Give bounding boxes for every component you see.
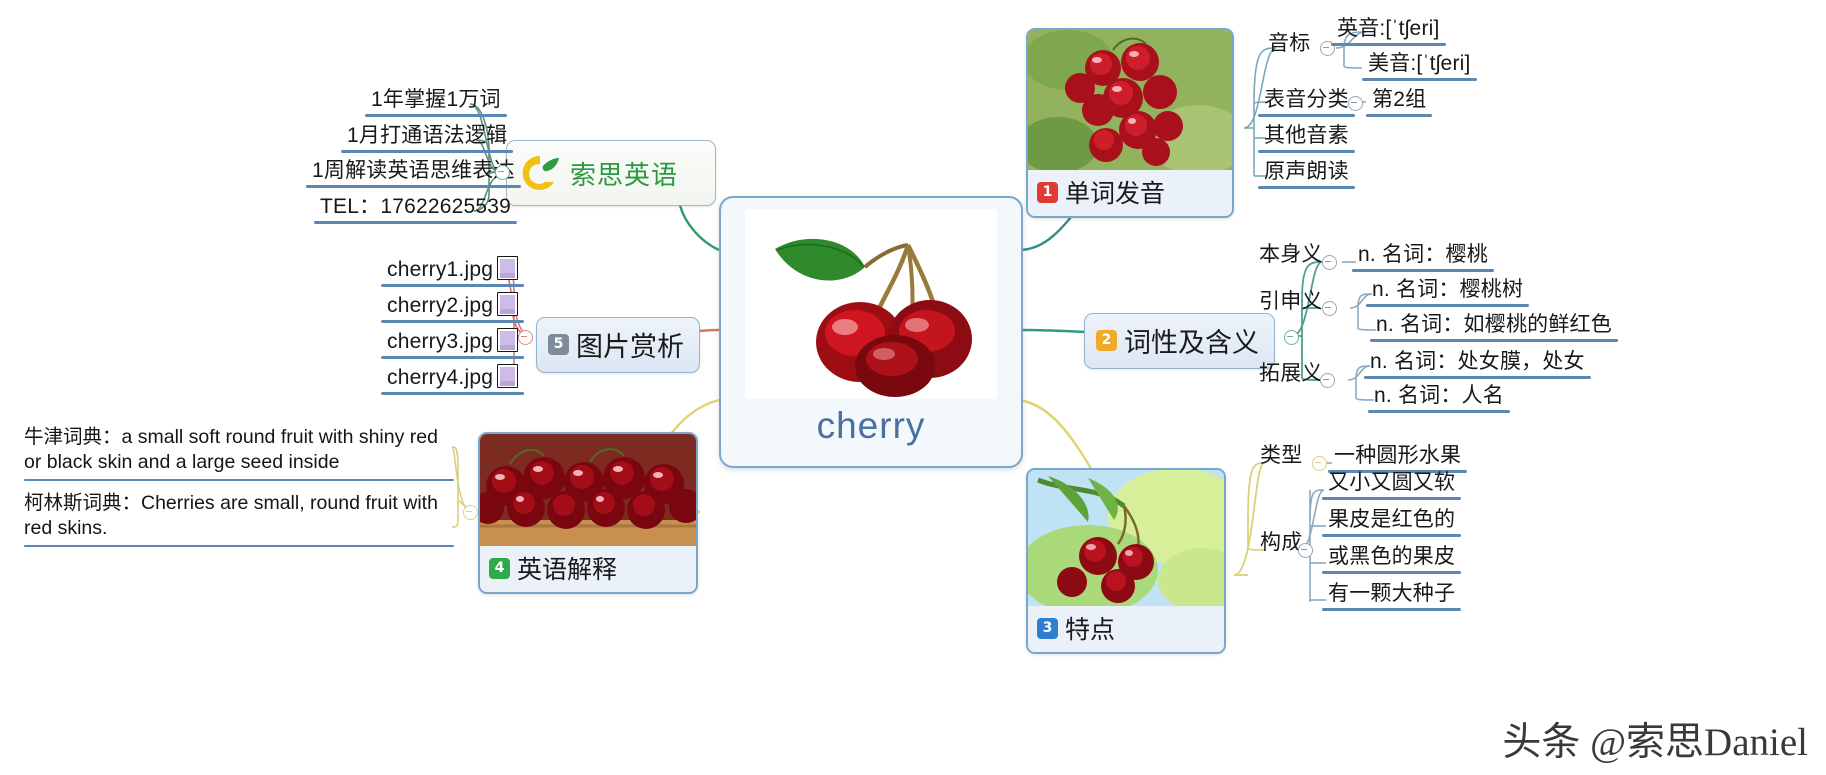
mindmap-canvas: cherry 索思英语 1年掌握1万词 1月打通语法逻辑 1周解读英语思维表达 … bbox=[0, 0, 1826, 775]
badge-number-2: 2 bbox=[1096, 330, 1117, 351]
pron-us-phonetic[interactable]: 美音:[ˈtʃeri] bbox=[1362, 52, 1477, 81]
features-label: 特点 bbox=[1065, 610, 1115, 646]
collapse-knob-literal[interactable] bbox=[1322, 255, 1337, 270]
collapse-knob-expanded[interactable] bbox=[1320, 373, 1335, 388]
image-file-icon bbox=[497, 292, 518, 316]
badge-number-4: 4 bbox=[489, 558, 510, 579]
picture-file-1[interactable]: cherry2.jpg bbox=[381, 292, 524, 323]
english-explanation-image bbox=[480, 434, 696, 546]
collapse-knob-english[interactable] bbox=[463, 505, 478, 520]
badge-number-1: 1 bbox=[1037, 182, 1058, 203]
leaf-circle-logo-icon bbox=[519, 152, 561, 194]
meaning-label: 词性及含义 bbox=[1124, 321, 1259, 360]
pron-item-category[interactable]: 表音分类 bbox=[1258, 88, 1355, 117]
branch-meaning-node[interactable]: 2 词性及含义 bbox=[1084, 313, 1275, 369]
features-composition-2[interactable]: 或黑色的果皮 bbox=[1322, 545, 1461, 574]
pron-item-native-reading[interactable]: 原声朗读 bbox=[1258, 160, 1355, 189]
pron-item-yinbiao[interactable]: 音标 bbox=[1262, 32, 1316, 59]
watermark-label: 头条 @索思Daniel bbox=[1502, 711, 1808, 767]
brand-slogan-1[interactable]: 1月打通语法逻辑 bbox=[341, 124, 513, 153]
pronunciation-image bbox=[1028, 30, 1232, 170]
pronunciation-label: 单词发音 bbox=[1065, 174, 1165, 210]
english-label: 英语解释 bbox=[517, 550, 617, 586]
collapse-knob-extended[interactable] bbox=[1322, 301, 1337, 316]
features-composition-1[interactable]: 果皮是红色的 bbox=[1322, 508, 1461, 537]
meaning-item-expanded[interactable]: 拓展义 bbox=[1253, 362, 1329, 389]
meaning-expanded-1[interactable]: n. 名词：人名 bbox=[1368, 384, 1510, 413]
features-caption: 3 特点 bbox=[1028, 606, 1224, 652]
picture-file-3[interactable]: cherry4.jpg bbox=[381, 364, 524, 395]
central-word-label: cherry bbox=[817, 405, 926, 447]
branch-pronunciation-node[interactable]: 1 单词发音 bbox=[1026, 28, 1234, 218]
meaning-literal-0[interactable]: n. 名词：樱桃 bbox=[1352, 243, 1494, 272]
meaning-item-literal[interactable]: 本身义 bbox=[1253, 243, 1329, 270]
brand-logo-node[interactable]: 索思英语 bbox=[506, 140, 716, 206]
branch-pictures-node[interactable]: 5 图片赏析 bbox=[536, 317, 700, 373]
branch-features-node[interactable]: 3 特点 bbox=[1026, 468, 1226, 654]
pictures-label: 图片赏析 bbox=[576, 325, 684, 364]
pron-item-other-phonemes[interactable]: 其他音素 bbox=[1258, 124, 1355, 153]
image-file-icon bbox=[497, 328, 518, 352]
dict-oxford[interactable]: 牛津词典：a small soft round fruit with shiny… bbox=[18, 422, 460, 485]
meaning-extended-1[interactable]: n. 名词：如樱桃的鲜红色 bbox=[1370, 313, 1618, 342]
badge-number-5: 5 bbox=[548, 334, 569, 355]
pron-category-group[interactable]: 第2组 bbox=[1366, 88, 1432, 117]
image-file-icon bbox=[497, 364, 518, 388]
central-cherry-image bbox=[745, 209, 997, 399]
features-type-0[interactable]: 一种圆形水果 bbox=[1328, 444, 1467, 473]
collapse-knob-composition[interactable] bbox=[1298, 543, 1313, 558]
badge-number-3: 3 bbox=[1037, 618, 1058, 639]
english-caption: 4 英语解释 bbox=[480, 546, 696, 592]
collapse-knob-type[interactable] bbox=[1312, 456, 1327, 471]
features-composition-3[interactable]: 有一颗大种子 bbox=[1322, 582, 1461, 611]
meaning-expanded-0[interactable]: n. 名词：处女膜，处女 bbox=[1364, 350, 1591, 379]
brand-phone[interactable]: TEL：17622625539 bbox=[314, 195, 517, 224]
dict-collins[interactable]: 柯林斯词典：Cherries are small, round fruit wi… bbox=[18, 488, 460, 551]
image-file-icon bbox=[497, 256, 518, 280]
picture-file-0[interactable]: cherry1.jpg bbox=[381, 256, 524, 287]
brand-slogan-2[interactable]: 1周解读英语思维表达 bbox=[306, 159, 521, 188]
features-composition-0[interactable]: 又小又圆又软 bbox=[1322, 471, 1461, 500]
branch-english-node[interactable]: 4 英语解释 bbox=[478, 432, 698, 594]
brand-name-label: 索思英语 bbox=[570, 155, 678, 192]
pronunciation-caption: 1 单词发音 bbox=[1028, 170, 1232, 216]
central-topic-node[interactable]: cherry bbox=[719, 196, 1023, 468]
brand-slogan-0[interactable]: 1年掌握1万词 bbox=[365, 88, 507, 117]
picture-file-2[interactable]: cherry3.jpg bbox=[381, 328, 524, 359]
pron-uk-phonetic[interactable]: 英音:[ˈtʃeri] bbox=[1331, 17, 1446, 46]
meaning-item-extended[interactable]: 引申义 bbox=[1253, 290, 1329, 317]
collapse-knob-brand[interactable] bbox=[495, 165, 510, 180]
features-image bbox=[1028, 470, 1224, 606]
collapse-knob-category[interactable] bbox=[1348, 96, 1363, 111]
meaning-extended-0[interactable]: n. 名词：樱桃树 bbox=[1366, 278, 1529, 307]
features-item-type[interactable]: 类型 bbox=[1254, 444, 1308, 471]
collapse-knob-meaning[interactable] bbox=[1284, 330, 1299, 345]
